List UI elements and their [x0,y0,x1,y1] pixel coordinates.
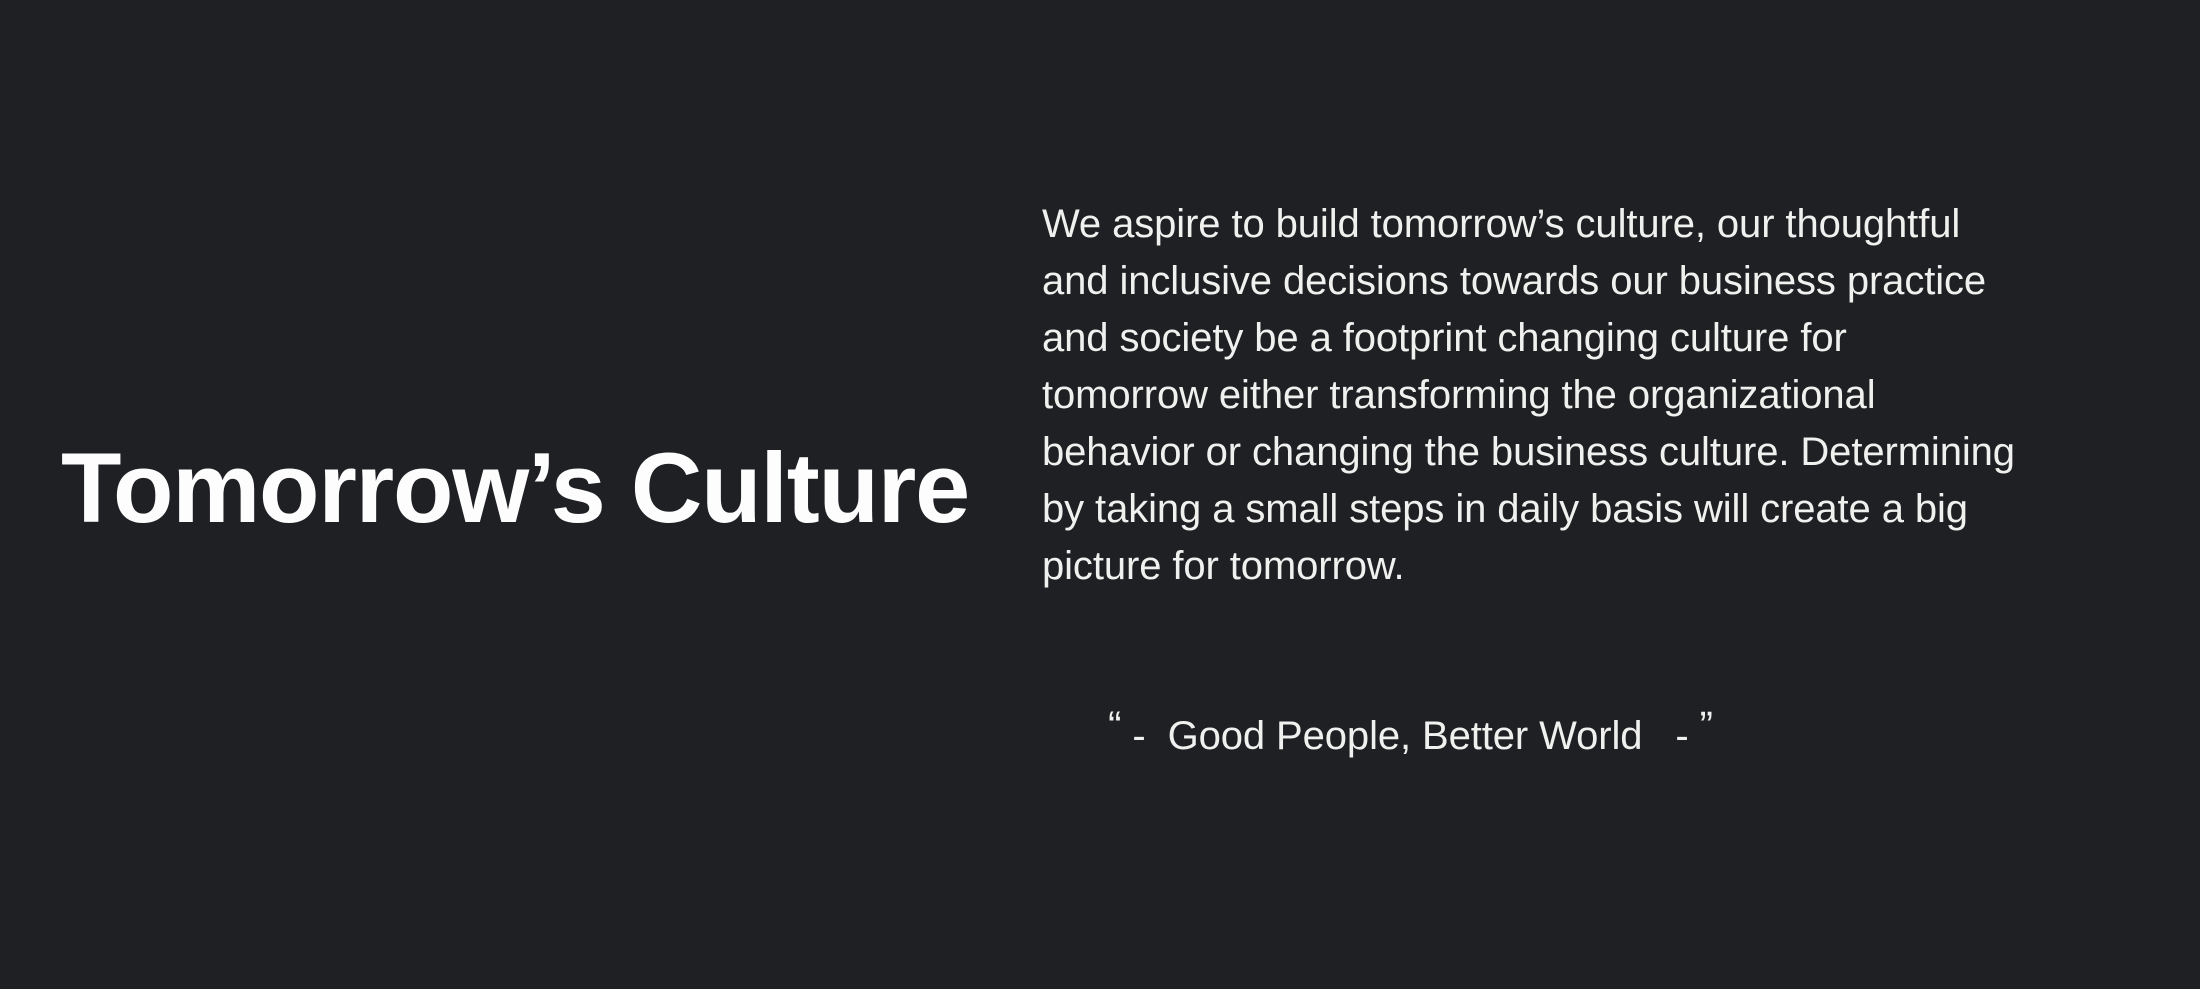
copy-column: We aspire to build tomorrow’s culture, o… [1042,196,2017,822]
quote-text: - Good People, Better World - [1121,714,1699,758]
open-quote-mark: “ [1108,704,1121,748]
quote-line: “ - Good People, Better World - ” [1042,649,2017,822]
close-quote-mark: ” [1700,704,1713,748]
page-title: Tomorrow’s Culture [61,426,969,564]
headline-column: Tomorrow’s Culture [0,0,1030,989]
body-paragraph: We aspire to build tomorrow’s culture, o… [1042,196,2017,595]
slide-root: Tomorrow’s Culture We aspire to build to… [0,0,2200,989]
